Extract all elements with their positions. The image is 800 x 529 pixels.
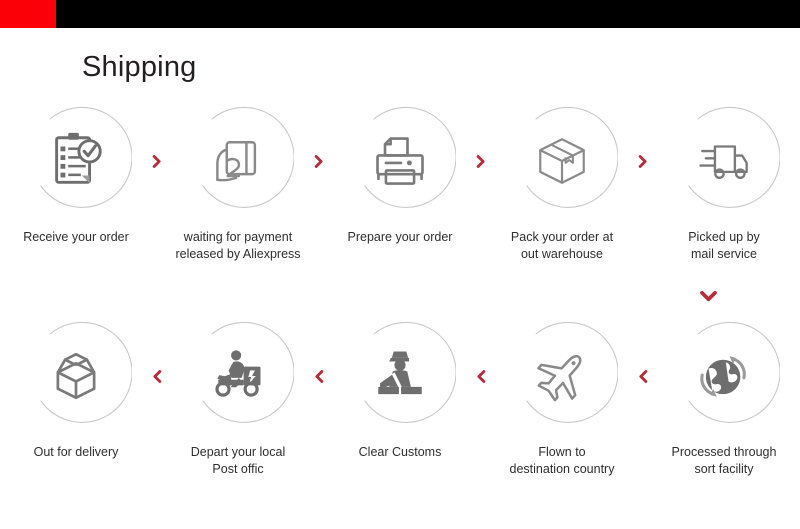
flow-step-depart-post-office[interactable]: Depart your local Post offic <box>162 320 314 478</box>
flow-step-label: Prepare your order <box>325 229 475 246</box>
header-accent-block <box>0 0 56 28</box>
flow-step-label: Depart your local Post offic <box>163 444 313 478</box>
flow-step-label: Out for delivery <box>1 444 151 461</box>
flow-step-label: Flown to destination country <box>487 444 637 478</box>
step-circle <box>344 105 456 217</box>
customs-officer-icon <box>367 343 433 409</box>
flow-step-label: Picked up by mail service <box>649 229 799 263</box>
chevron-left-icon <box>152 320 162 432</box>
flow-step-out-for-delivery[interactable]: Out for delivery <box>0 320 152 461</box>
step-circle <box>668 320 780 432</box>
chevron-down-icon <box>694 284 722 308</box>
step-circle <box>182 320 294 432</box>
flow-step-receive-order[interactable]: Receive your order <box>0 105 152 246</box>
step-circle <box>20 320 132 432</box>
printer-icon <box>367 128 433 194</box>
airplane-icon <box>529 343 595 409</box>
step-circle <box>20 105 132 217</box>
chevron-right-icon <box>476 105 486 217</box>
flow-step-label: Processed through sort facility <box>649 444 799 478</box>
step-circle <box>506 105 618 217</box>
chevron-left-icon <box>476 320 486 432</box>
delivery-truck-icon <box>691 128 757 194</box>
shipping-flow-row-1: Receive your order waiting for payment r… <box>0 105 800 290</box>
flow-step-clear-customs[interactable]: Clear Customs <box>324 320 476 461</box>
step-circle <box>668 105 780 217</box>
flow-step-label: waiting for payment released by Aliexpre… <box>163 229 313 263</box>
step-circle <box>344 320 456 432</box>
flow-step-processed-sort-facility[interactable]: Processed through sort facility <box>648 320 800 478</box>
page-title: Shipping <box>82 50 196 84</box>
flow-step-pack-order[interactable]: Pack your order at out warehouse <box>486 105 638 263</box>
closed-box-icon <box>529 128 595 194</box>
shipping-flow-row-2: Out for delivery <box>0 320 800 505</box>
clipboard-check-icon <box>43 128 109 194</box>
flow-step-prepare-order[interactable]: Prepare your order <box>324 105 476 246</box>
scooter-courier-icon <box>205 343 271 409</box>
globe-arrows-icon <box>691 343 757 409</box>
flow-step-label: Receive your order <box>1 229 151 246</box>
flow-step-label: Pack your order at out warehouse <box>487 229 637 263</box>
chevron-right-icon <box>638 105 648 217</box>
flow-step-flown-to-destination[interactable]: Flown to destination country <box>486 320 638 478</box>
flow-step-waiting-payment[interactable]: waiting for payment released by Aliexpre… <box>162 105 314 263</box>
chevron-right-icon <box>314 105 324 217</box>
header-bar <box>0 0 800 28</box>
step-circle <box>182 105 294 217</box>
open-box-icon <box>43 343 109 409</box>
step-circle <box>506 320 618 432</box>
flow-step-label: Clear Customs <box>325 444 475 461</box>
chevron-left-icon <box>314 320 324 432</box>
chevron-right-icon <box>152 105 162 217</box>
chevron-left-icon <box>638 320 648 432</box>
hand-credit-card-icon <box>205 128 271 194</box>
flow-step-picked-up[interactable]: Picked up by mail service <box>648 105 800 263</box>
